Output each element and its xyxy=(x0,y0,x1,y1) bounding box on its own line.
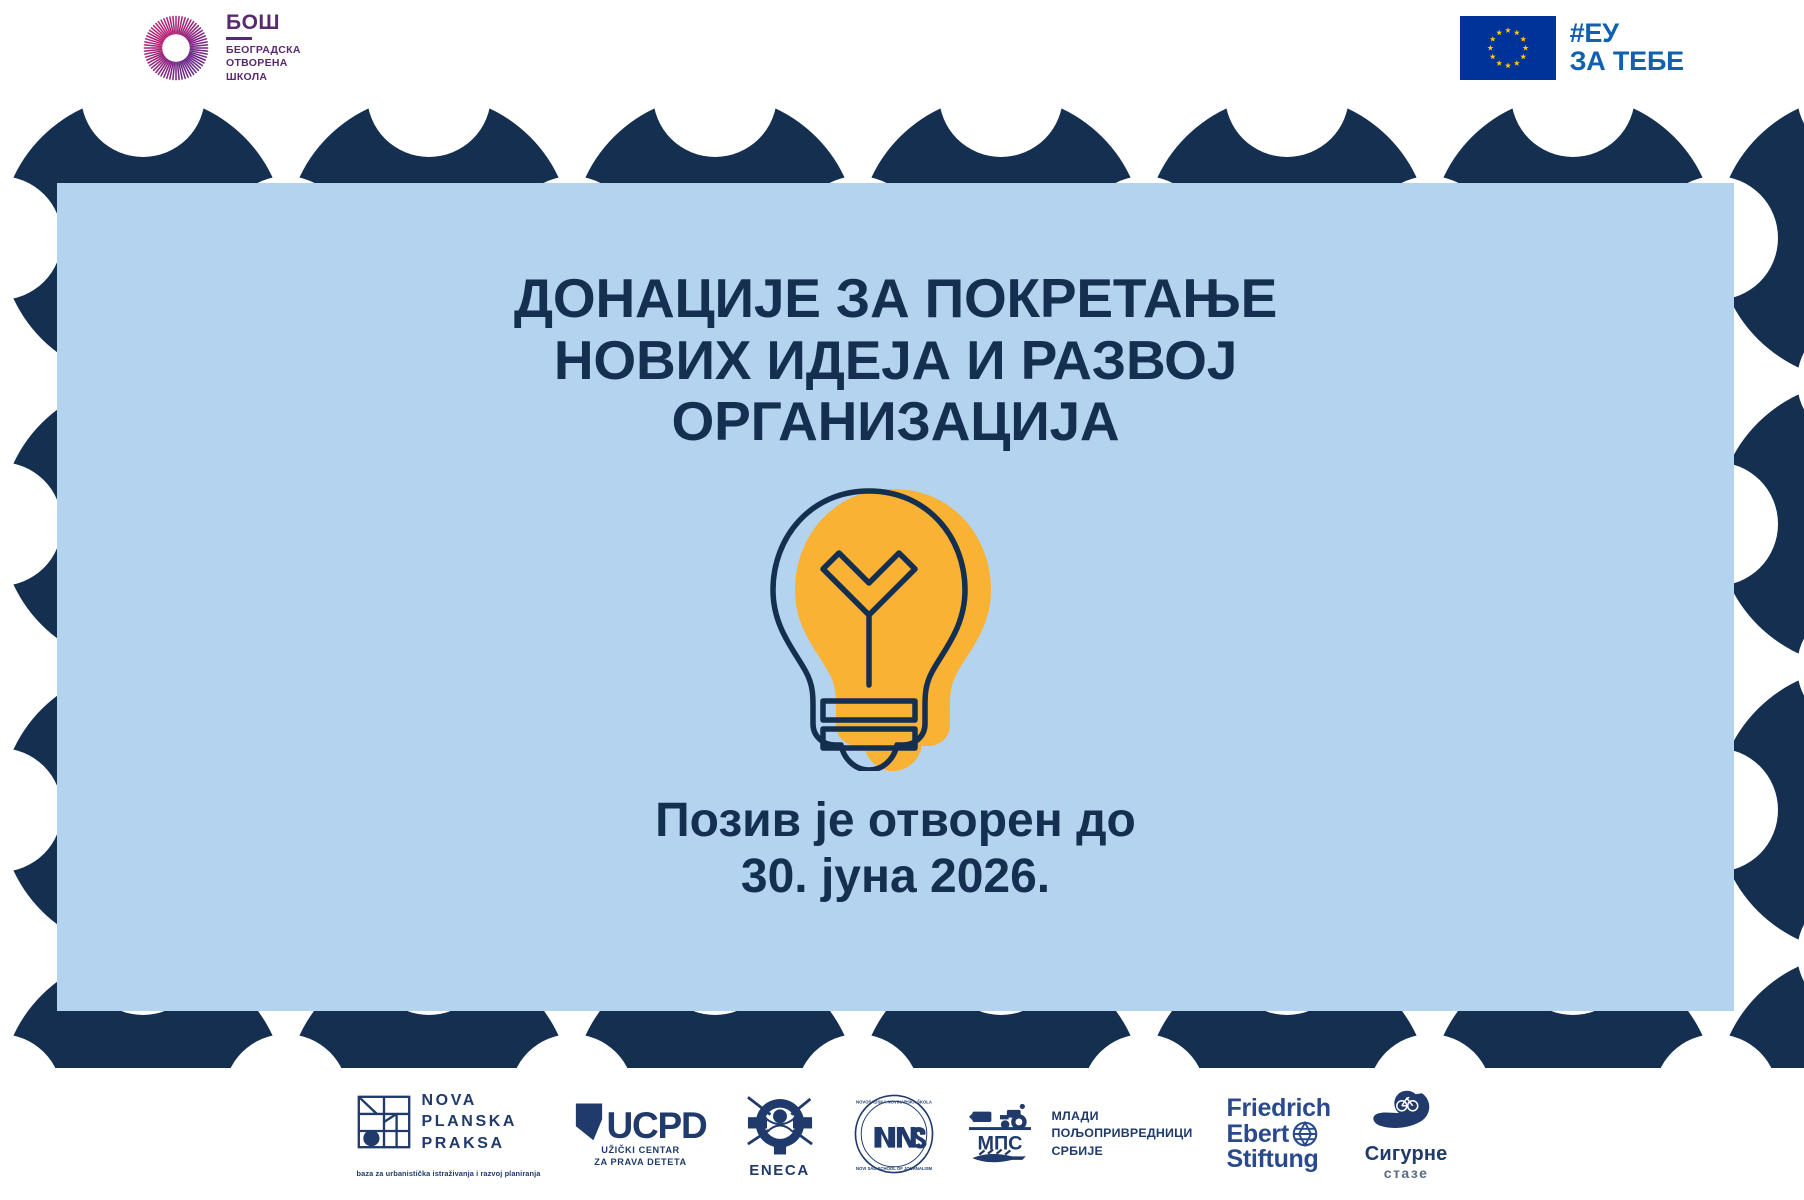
npp-name-line-1: NOVA xyxy=(422,1090,518,1111)
partner-logo-mps: МПС МЛАДИ ПОЉОПРИВРЕДНИЦИ СРБИЈЕ xyxy=(969,1103,1193,1165)
bos-name-line-1: БЕОГРАДСКА xyxy=(226,44,301,57)
headline-line-2: НОВИХ ИДЕЈА И РАЗВОЈ xyxy=(514,330,1277,392)
tractor-wheat-icon: МПС xyxy=(969,1103,1043,1165)
partner-logo-sigurne-staze: Сигурне стазе xyxy=(1365,1087,1448,1182)
main-content-card: ДОНАЦИЈЕ ЗА ПОКРЕТАЊЕ НОВИХ ИДЕЈА И РАЗВ… xyxy=(57,183,1734,1011)
lightbulb-icon xyxy=(761,481,1031,771)
mps-name-line-2: ПОЉОПРИВРЕДНИЦИ xyxy=(1052,1125,1193,1143)
deadline-text: Позив је отворен до 30. јуна 2026. xyxy=(655,793,1136,906)
triangle-flag-icon xyxy=(574,1100,604,1142)
eu-slogan-line-2: ЗА ТЕБЕ xyxy=(1570,48,1684,76)
bos-abbr: БОШ xyxy=(226,12,301,33)
page-title: ДОНАЦИЈЕ ЗА ПОКРЕТАЊЕ НОВИХ ИДЕЈА И РАЗВ… xyxy=(514,268,1277,453)
fes-globe-icon xyxy=(1292,1121,1318,1147)
mps-name-line-3: СРБИЈЕ xyxy=(1052,1143,1193,1161)
headline-line-3: ОРГАНИЗАЦИЈА xyxy=(514,391,1277,453)
partner-logo-ucpd: UCPD UŽIČKI CENTAR ZA PRAVA DETETA xyxy=(574,1100,706,1169)
nns-ring-text-bottom: NOVI SAD SCHOOL OF JOURNALISM xyxy=(855,1166,932,1171)
eneca-name: ENECA xyxy=(749,1162,810,1179)
header-bar: БОШ БЕОГРАДСКА ОТВОРЕНА ШКОЛА #ЕУ ЗА ТЕБ… xyxy=(0,0,1804,100)
eu-slogan-line-1: #ЕУ xyxy=(1570,20,1684,48)
lightbulb-illustration xyxy=(761,481,1031,771)
fes-name-line-1: Friedrich xyxy=(1226,1096,1330,1121)
npp-name-line-3: PRAKSA xyxy=(422,1133,518,1154)
partner-logo-eneca: ENECA xyxy=(741,1090,819,1179)
eu-logo: #ЕУ ЗА ТЕБЕ xyxy=(1460,16,1684,80)
bos-name-line-3: ШКОЛА xyxy=(226,71,301,84)
grid-plan-icon xyxy=(357,1095,411,1149)
sigurne-staze-name-1: Сигурне xyxy=(1365,1144,1448,1164)
partner-logo-novosadska-novinarska-skola: NOVOSADSKA NOVINARSKA ŠKOLA NOVI SAD SCH… xyxy=(853,1093,935,1175)
npp-name-line-2: PLANSKA xyxy=(422,1111,518,1132)
nns-monogram-icon: NOVOSADSKA NOVINARSKA ŠKOLA NOVI SAD SCH… xyxy=(853,1093,935,1175)
ucpd-sub-line-2: ZA PRAVA DETETA xyxy=(594,1157,687,1169)
bos-name-line-2: ОТВОРЕНА xyxy=(226,57,301,70)
npp-tagline: baza za urbanistička istraživanja i razv… xyxy=(357,1169,541,1178)
bos-logo: БОШ БЕОГРАДСКА ОТВОРЕНА ШКОЛА xyxy=(140,12,301,84)
fes-name-line-2: Ebert xyxy=(1226,1122,1288,1147)
ucpd-sub-line-1: UŽIČKI CENTAR xyxy=(594,1145,687,1157)
bos-divider xyxy=(226,37,252,40)
hand-bicycle-icon xyxy=(1370,1087,1442,1143)
partner-logos-strip: NOVA PLANSKA PRAKSA baza za urbanistička… xyxy=(0,1068,1804,1200)
ucpd-abbr: UCPD xyxy=(606,1110,706,1141)
deadline-line-1: Позив је отворен до xyxy=(655,793,1136,850)
eneca-globe-icon xyxy=(741,1090,819,1160)
nns-ring-text-top: NOVOSADSKA NOVINARSKA ŠKOLA xyxy=(856,1100,932,1105)
sigurne-staze-name-2: стазе xyxy=(1384,1165,1429,1182)
partner-logo-friedrich-ebert-stiftung: Friedrich Ebert Stiftung xyxy=(1226,1096,1330,1172)
deadline-line-2: 30. јуна 2026. xyxy=(655,849,1136,906)
partner-logo-nova-planska-praksa: NOVA PLANSKA PRAKSA baza za urbanistička… xyxy=(357,1090,541,1177)
poster-root: БОШ БЕОГРАДСКА ОТВОРЕНА ШКОЛА #ЕУ ЗА ТЕБ… xyxy=(0,0,1804,1200)
fes-name-line-3: Stiftung xyxy=(1226,1147,1330,1172)
eu-flag-icon xyxy=(1460,16,1556,80)
mps-name-line-1: МЛАДИ xyxy=(1052,1108,1193,1126)
headline-line-1: ДОНАЦИЈЕ ЗА ПОКРЕТАЊЕ xyxy=(514,268,1277,330)
bos-radial-burst-logo-icon xyxy=(140,12,212,84)
